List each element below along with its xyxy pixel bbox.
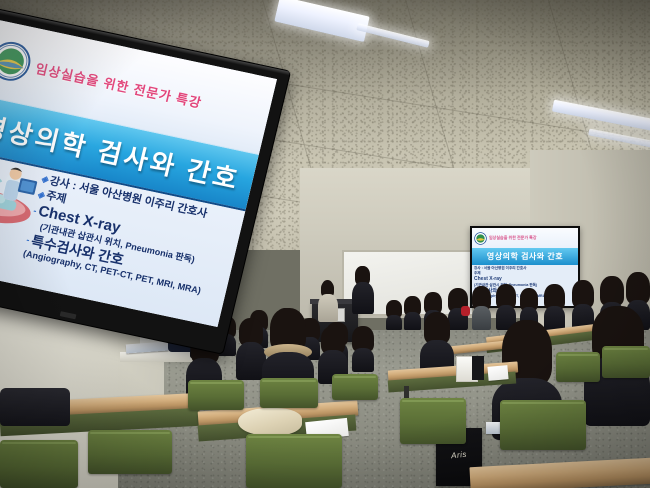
screen2-kicker: 임상실습을 위한 전문가 특강	[489, 235, 537, 241]
chair	[500, 400, 586, 450]
university-emblem	[0, 38, 35, 85]
handout-papers	[487, 365, 508, 381]
chair	[556, 352, 600, 382]
chair	[332, 374, 378, 400]
presenter-left	[318, 280, 338, 322]
chair	[188, 380, 244, 410]
screen2-line: Chest X-ray	[474, 276, 576, 283]
university-emblem-small	[474, 232, 487, 245]
bag-on-desk	[0, 388, 70, 426]
chair	[400, 398, 466, 444]
shopping-bag-label: Aris	[451, 449, 468, 460]
chair	[246, 434, 342, 488]
chair	[0, 440, 78, 488]
bullet-icon: ◈	[37, 189, 46, 200]
presenter-body	[318, 294, 338, 322]
bullet-icon: ◈	[40, 174, 49, 185]
presenter-right	[352, 266, 374, 314]
tote-contents	[472, 356, 484, 380]
classroom-photo: 임상실습을 위한 전문가 특강 영상의학 검사와 간호 강사 : 서울 아산병원…	[0, 0, 650, 488]
screen2-title: 영상의학 검사와 간호	[487, 251, 563, 262]
knit-sweater	[238, 408, 302, 436]
chair	[260, 378, 318, 408]
chair	[602, 346, 650, 378]
red-scarf	[461, 306, 470, 316]
slide-kicker: 임상실습을 위한 전문가 특강	[34, 58, 204, 112]
chair	[88, 430, 172, 474]
presenter-body	[352, 282, 374, 314]
